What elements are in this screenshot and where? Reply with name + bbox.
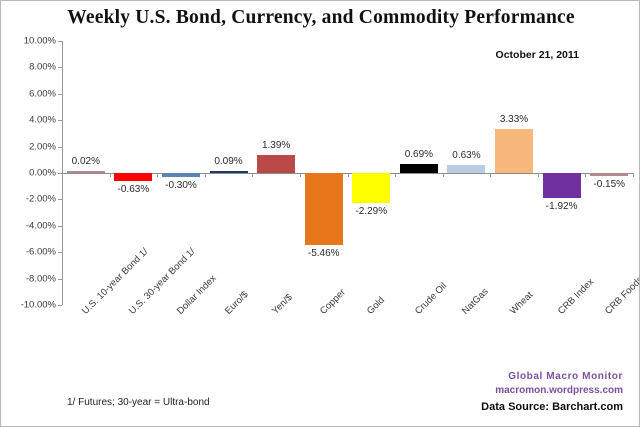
y-tick-label: 6.00%: [29, 88, 56, 99]
bar-value-label: -1.92%: [527, 201, 597, 212]
y-tick: [58, 41, 62, 42]
bar: [495, 129, 533, 173]
chart-title: Weekly U.S. Bond, Currency, and Commodit…: [1, 7, 640, 29]
bar-value-label: -5.46%: [289, 248, 359, 259]
x-tick: [395, 173, 396, 177]
y-tick-label: 4.00%: [29, 115, 56, 126]
bar: [210, 171, 248, 174]
y-tick: [58, 120, 62, 121]
footnote: 1/ Futures; 30-year = Ultra-bond: [67, 397, 210, 408]
y-tick-label: -4.00%: [26, 220, 56, 231]
y-tick-label: -10.00%: [21, 300, 56, 311]
x-tick: [110, 173, 111, 177]
y-tick-label: -6.00%: [26, 247, 56, 258]
bar: [400, 164, 438, 173]
x-tick: [538, 173, 539, 177]
credits-block: Global Macro Monitor macromon.wordpress.…: [481, 370, 623, 414]
x-tick: [252, 173, 253, 177]
y-tick-label: 0.00%: [29, 168, 56, 179]
bar: [590, 173, 628, 176]
y-tick-label: -8.00%: [26, 273, 56, 284]
bar: [257, 155, 295, 173]
y-tick: [58, 279, 62, 280]
credit-url: macromon.wordpress.com: [481, 384, 623, 398]
x-tick: [585, 173, 586, 177]
y-tick: [58, 305, 62, 306]
x-tick: [300, 173, 301, 177]
bar: [447, 165, 485, 173]
bar-value-label: 3.33%: [479, 114, 549, 125]
bar-value-label: -0.30%: [146, 180, 216, 191]
y-tick-label: 2.00%: [29, 141, 56, 152]
x-tick: [443, 173, 444, 177]
x-tick: [157, 173, 158, 177]
x-tick: [348, 173, 349, 177]
y-tick-label: 8.00%: [29, 62, 56, 73]
bar-value-label: -0.15%: [574, 179, 640, 190]
y-tick: [58, 226, 62, 227]
chart-container: Weekly U.S. Bond, Currency, and Commodit…: [0, 0, 640, 427]
plot-area: 10.00%8.00%6.00%4.00%2.00%0.00%-2.00%-4.…: [62, 41, 633, 305]
y-tick: [58, 199, 62, 200]
x-tick: [633, 173, 634, 177]
y-tick-label: -2.00%: [26, 194, 56, 205]
y-tick-label: 10.00%: [24, 36, 56, 47]
y-tick: [58, 252, 62, 253]
y-tick: [58, 147, 62, 148]
bar-value-label: 0.63%: [431, 150, 501, 161]
bar: [67, 171, 105, 174]
bar: [162, 173, 200, 177]
bar: [352, 173, 390, 203]
x-tick: [62, 173, 63, 177]
credit-source: Data Source: Barchart.com: [481, 400, 623, 414]
bar-value-label: 0.09%: [194, 156, 264, 167]
y-tick: [58, 67, 62, 68]
credit-brand: Global Macro Monitor: [481, 370, 623, 384]
x-tick: [490, 173, 491, 177]
x-tick: [205, 173, 206, 177]
bar-value-label: -2.29%: [336, 206, 406, 217]
bar-value-label: 0.02%: [51, 156, 121, 167]
y-tick: [58, 94, 62, 95]
bar-value-label: 1.39%: [241, 140, 311, 151]
